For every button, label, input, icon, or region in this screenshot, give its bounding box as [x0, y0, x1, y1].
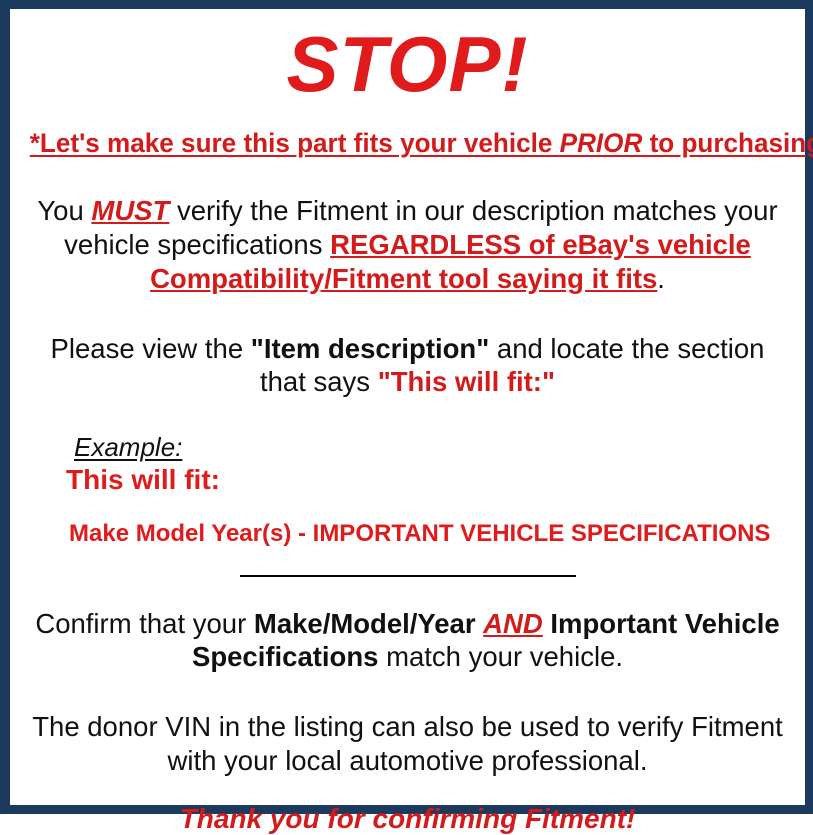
subhead-text-after: to purchasing* [642, 128, 813, 158]
paragraph-confirm: Confirm that your Make/Model/Year AND Im… [24, 607, 791, 675]
make-model-year-emphasis: Make/Model/Year [254, 608, 476, 639]
example-label: Example: [74, 433, 182, 462]
stop-headline: STOP! [24, 25, 791, 103]
closing-thank-you: Thank you for confirming Fitment! [24, 804, 791, 835]
example-block: Example: This will fit: Make Model Year(… [24, 433, 791, 547]
example-spec-line: Make Model Year(s) - IMPORTANT VEHICLE S… [69, 521, 791, 547]
fitment-notice-card: STOP! *Let's make sure this part fits yo… [0, 0, 813, 814]
example-fit-heading: This will fit: [66, 464, 791, 495]
subhead-text-before: *Let's make sure this part fits your veh… [30, 128, 560, 158]
section-divider [240, 575, 576, 577]
example-label-row: Example: [54, 433, 791, 462]
this-will-fit-emphasis: "This will fit:" [378, 366, 555, 397]
please-text-1: Please view the [51, 333, 251, 364]
and-emphasis: AND [483, 608, 543, 639]
divider-wrap [24, 575, 791, 577]
subhead-emphasis-prior: PRIOR [560, 128, 643, 158]
must-text-1: You [37, 195, 91, 226]
paragraph-donor-vin: The donor VIN in the listing can also be… [24, 710, 791, 778]
confirm-text-2: match your vehicle. [378, 641, 623, 672]
item-description-emphasis: "Item description" [251, 333, 489, 364]
confirm-text-1: Confirm that your [35, 608, 254, 639]
notice-content: STOP! *Let's make sure this part fits yo… [10, 25, 805, 821]
must-text-3: . [657, 263, 665, 294]
subhead-line: *Let's make sure this part fits your veh… [30, 129, 785, 158]
paragraph-must: You MUST verify the Fitment in our descr… [24, 194, 791, 295]
must-emphasis: MUST [91, 195, 169, 226]
paragraph-please-view: Please view the "Item description" and l… [24, 332, 791, 400]
